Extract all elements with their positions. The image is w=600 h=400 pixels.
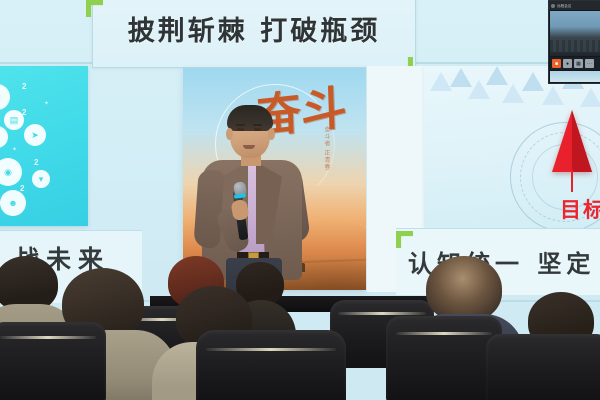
chair-front-left [0,322,106,400]
icon-collage-poster: ⚙ ▤ ➤ ✎ ◉ ☻ ▾ 2 2 2 2 ✦ ✦ [0,66,88,226]
chair-highlight [396,332,492,335]
conference-photo: 披荆斩棘 打破瓶颈 ⚙ ▤ ➤ ✎ ◉ ☻ ▾ 2 2 2 2 ✦ ✦ 战未来 … [0,0,600,400]
poster-vertical-caption: 奋斗者 正青春 [319,126,331,171]
more-button[interactable]: ⋯ [585,59,594,68]
gear-icon: ⚙ [0,84,10,110]
accent-mark: 2 [22,82,26,91]
poster-red-text: 目标 [560,194,600,224]
sparkle-icon: ✦ [12,146,17,153]
pen-icon: ✎ [0,126,8,148]
origami-triangle-icon [430,72,452,91]
presenter-left-arm [193,169,224,249]
accent-mark: 2 [20,184,24,193]
mic-button[interactable]: ■ [552,59,561,68]
accent-mark: 2 [22,108,26,117]
presenter-eyebrow-right [253,124,262,126]
chair-front-far-right [486,334,600,400]
book-icon: ▤ [4,110,24,130]
chair-front-right [386,316,502,400]
video-feed [550,11,600,56]
chair-highlight [206,348,336,351]
video-conference-window[interactable]: 远程会议 ■ ● ▦ ⋯ [548,0,600,84]
sparkle-icon: ✦ [44,100,49,107]
video-feed-audience-row [550,40,600,52]
video-window-titlebar: 远程会议 [549,1,600,10]
chair-highlight [0,336,96,339]
video-window-title: 远程会议 [557,3,571,8]
globe-icon: ◉ [0,158,22,186]
presenter-ear-left [226,128,233,140]
chair-highlight [338,312,426,315]
compass-pyramid-poster: 目标 [424,66,600,228]
video-window-footer [550,71,600,82]
person-icon: ☻ [0,190,26,216]
video-toolbar[interactable]: ■ ● ▦ ⋯ [550,57,600,70]
attendee-hair [426,256,502,322]
presenter-eye-right [254,128,261,131]
camera-button[interactable]: ● [563,59,572,68]
share-screen-button[interactable]: ▦ [574,59,583,68]
origami-triangle-icon [542,86,564,105]
red-pyramid-shadow-face [572,110,592,172]
compass-needle-icon [571,170,573,192]
chair-front-center [196,330,346,400]
presenter-ear-right [268,128,275,140]
presenter-eyebrow-left [236,124,245,126]
origami-triangle-icon [486,66,508,85]
megaphone-icon: ➤ [24,124,46,146]
origami-triangle-icon [502,84,524,103]
origami-triangle-icon [580,88,600,107]
presenter-eye-left [237,128,244,131]
origami-triangle-icon [522,72,544,91]
presenter-hair [227,105,273,131]
banner-headline: 披荆斩棘 打破瓶颈 [104,6,404,58]
window-dot-icon [551,4,555,8]
accent-mark: 2 [34,158,38,167]
flask-icon: ▾ [32,170,50,188]
